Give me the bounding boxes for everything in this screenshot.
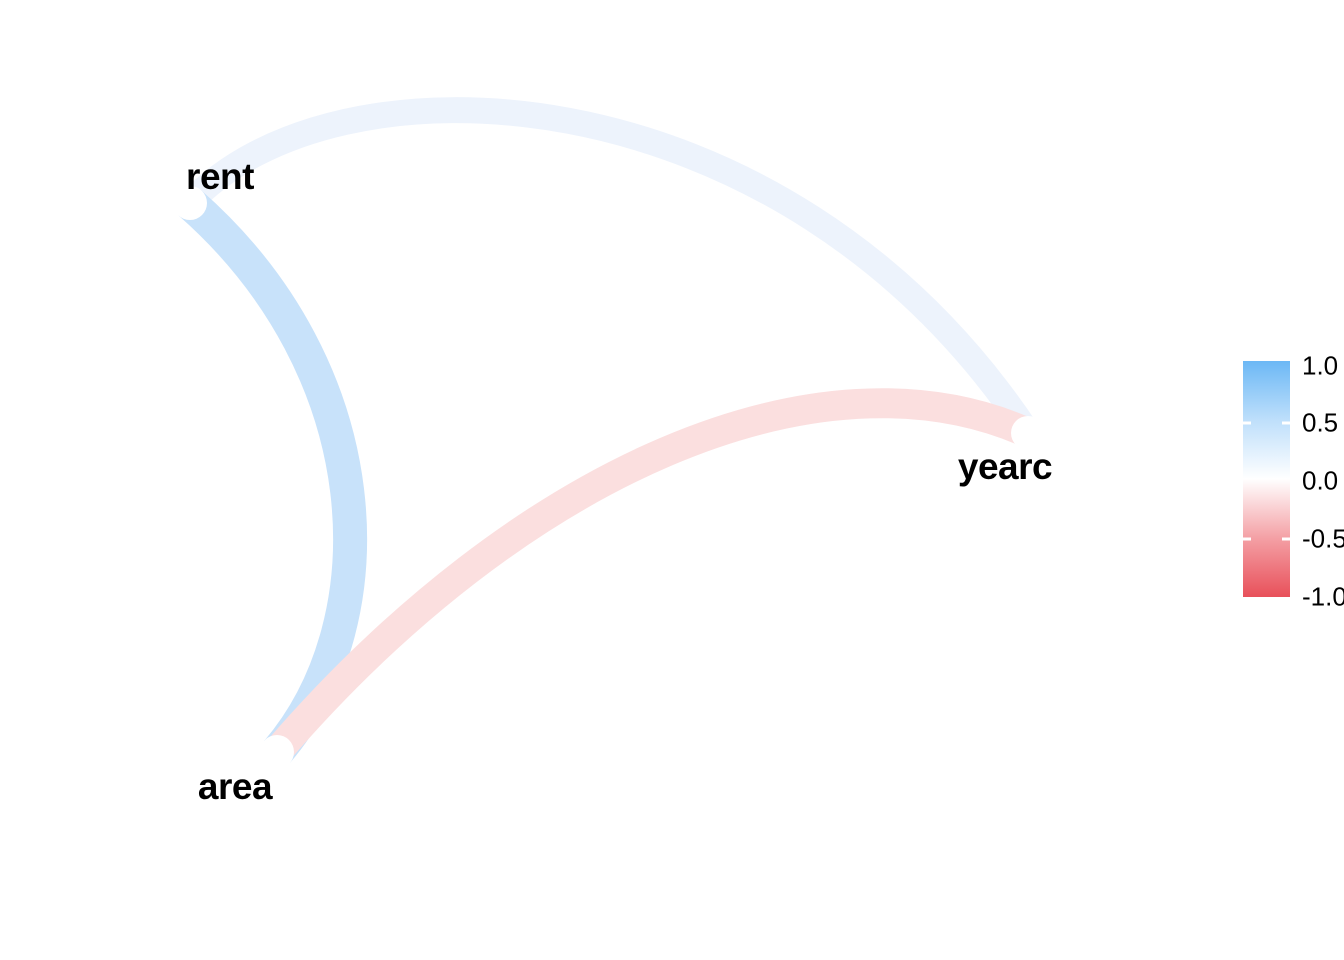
colorbar-tick-2: 0.5 xyxy=(1302,408,1338,439)
colorbar-tick-5: -1.0 xyxy=(1302,582,1344,613)
correlation-colorbar-legend xyxy=(1243,361,1290,597)
colorbar-tick-1: 1.0 xyxy=(1302,351,1338,382)
node-label-yearc: yearc xyxy=(958,446,1052,488)
colorbar-tick-4: -0.5 xyxy=(1302,524,1344,555)
edge-area-yearc xyxy=(277,403,1028,752)
network-graph-canvas xyxy=(0,0,1344,960)
colorbar-gradient-strip xyxy=(1243,361,1290,597)
colorbar-tick-3: 0.0 xyxy=(1302,466,1338,497)
correlation-network-plot: rent area yearc 1.0 0.5 0.0 -0.5 -1.0 xyxy=(0,0,1344,960)
node-label-area: area xyxy=(198,766,272,808)
edge-rent-area xyxy=(190,203,350,752)
node-label-rent: rent xyxy=(186,156,254,198)
